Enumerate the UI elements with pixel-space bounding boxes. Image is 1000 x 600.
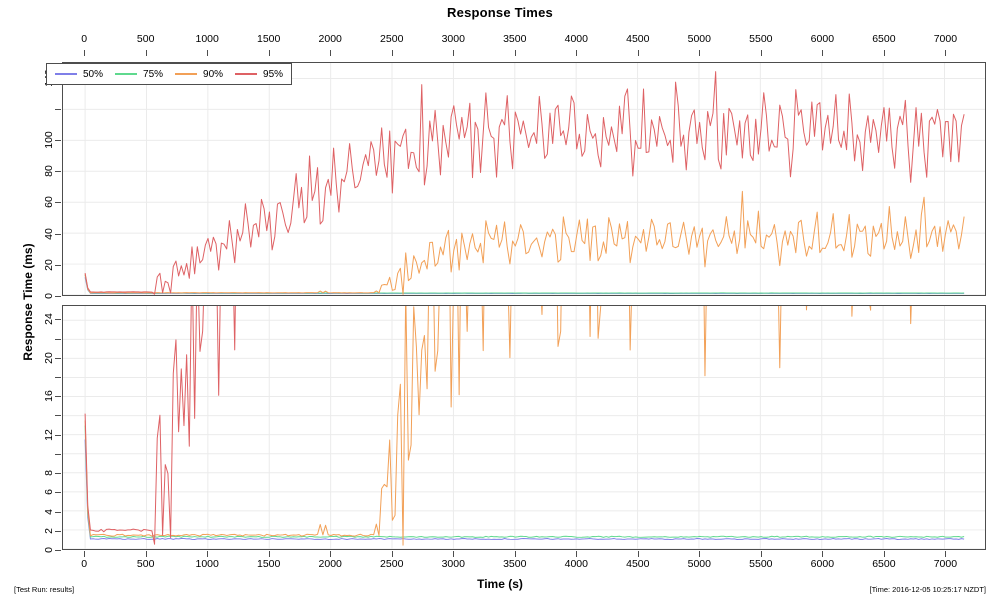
x-tickmark-top xyxy=(884,50,885,56)
x-tickmark-top xyxy=(453,50,454,56)
x-tickmark-bottom xyxy=(699,551,700,557)
plot-panel-zoomed xyxy=(62,305,986,550)
x-tick-label-top: 3000 xyxy=(442,33,465,45)
y-tickmark-bottom xyxy=(55,512,61,513)
x-tick-label-bottom: 3000 xyxy=(442,558,465,570)
y-tick-label-bottom: 12 xyxy=(43,415,55,455)
y-tick-label-bottom: 8 xyxy=(43,453,55,493)
x-tick-label-top: 1000 xyxy=(195,33,218,45)
plot-panel-full-range xyxy=(62,62,986,296)
legend-swatch-icon xyxy=(175,73,197,75)
y-tickmark-top xyxy=(55,234,61,235)
x-tick-label-top: 5000 xyxy=(688,33,711,45)
x-tick-label-bottom: 1000 xyxy=(195,558,218,570)
y-tickmark-bottom xyxy=(55,473,61,474)
y-tickmark-bottom xyxy=(55,319,61,320)
x-tickmark-top xyxy=(392,50,393,56)
y-tickmark-top xyxy=(55,140,61,141)
x-tick-label-bottom: 500 xyxy=(137,558,155,570)
series-line-50pct xyxy=(85,439,964,539)
legend-entry-95pct[interactable]: 95% xyxy=(235,69,283,80)
series-line-95pct xyxy=(85,72,964,295)
y-tickmark-bottom xyxy=(55,492,61,493)
x-tickmark-bottom xyxy=(515,551,516,557)
x-tickmark-bottom xyxy=(146,551,147,557)
y-tickmark-top xyxy=(55,296,61,297)
x-tickmark-top xyxy=(207,50,208,56)
legend-entry-50pct[interactable]: 50% xyxy=(55,69,103,80)
y-tickmark-bottom xyxy=(55,396,61,397)
x-tick-label-bottom: 6500 xyxy=(872,558,895,570)
chart-legend: 50%75%90%95% xyxy=(46,63,292,85)
x-tick-label-bottom: 2500 xyxy=(380,558,403,570)
y-tickmark-bottom xyxy=(55,531,61,532)
x-tickmark-bottom xyxy=(576,551,577,557)
plot-svg-zoomed xyxy=(63,306,985,549)
x-tickmark-top xyxy=(761,50,762,56)
x-tickmark-top xyxy=(146,50,147,56)
y-tickmark-bottom xyxy=(55,339,61,340)
x-tick-label-bottom: 0 xyxy=(81,558,87,570)
y-tickmark-bottom xyxy=(55,435,61,436)
x-tickmark-bottom xyxy=(269,551,270,557)
legend-swatch-icon xyxy=(55,73,77,75)
x-tick-label-top: 2000 xyxy=(319,33,342,45)
x-tickmark-bottom xyxy=(84,551,85,557)
legend-label: 90% xyxy=(203,69,223,80)
x-tickmark-top xyxy=(84,50,85,56)
x-tick-label-top: 500 xyxy=(137,33,155,45)
x-tick-label-top: 6000 xyxy=(811,33,834,45)
x-tickmark-bottom xyxy=(945,551,946,557)
series-line-50pct xyxy=(85,277,964,293)
x-tick-label-bottom: 4000 xyxy=(565,558,588,570)
x-tick-label-bottom: 6000 xyxy=(811,558,834,570)
y-tickmark-top xyxy=(55,109,61,110)
legend-swatch-icon xyxy=(115,73,137,75)
y-tickmark-bottom xyxy=(55,550,61,551)
test-run-footnote: [Test Run: results] xyxy=(14,585,74,594)
x-tickmark-bottom xyxy=(761,551,762,557)
x-tick-label-bottom: 1500 xyxy=(257,558,280,570)
series-line-75pct xyxy=(85,275,964,293)
x-tick-label-top: 3500 xyxy=(503,33,526,45)
y-tick-label-top: 100 xyxy=(43,120,55,160)
y-tick-label-bottom: 20 xyxy=(43,338,55,378)
x-tick-label-top: 4000 xyxy=(565,33,588,45)
y-tickmark-top xyxy=(55,265,61,266)
x-tickmark-top xyxy=(822,50,823,56)
y-axis-title: Response Time (ms) xyxy=(21,182,35,422)
legend-label: 95% xyxy=(263,69,283,80)
series-line-75pct xyxy=(85,426,964,538)
x-tick-label-bottom: 4500 xyxy=(626,558,649,570)
legend-entry-90pct[interactable]: 90% xyxy=(175,69,223,80)
x-tick-label-top: 7000 xyxy=(934,33,957,45)
y-tick-label-bottom: 24 xyxy=(43,299,55,339)
x-tickmark-top xyxy=(330,50,331,56)
x-tickmark-top xyxy=(515,50,516,56)
x-tick-label-bottom: 5500 xyxy=(749,558,772,570)
legend-swatch-icon xyxy=(235,73,257,75)
x-tickmark-top xyxy=(638,50,639,56)
legend-label: 50% xyxy=(83,69,103,80)
y-tickmark-bottom xyxy=(55,454,61,455)
x-tickmark-top xyxy=(576,50,577,56)
y-tickmark-top xyxy=(55,171,61,172)
x-tick-label-top: 2500 xyxy=(380,33,403,45)
x-tick-label-bottom: 7000 xyxy=(934,558,957,570)
series-line-90pct xyxy=(85,306,964,545)
x-tick-label-top: 4500 xyxy=(626,33,649,45)
plot-svg-full-range xyxy=(63,63,985,295)
series-line-95pct xyxy=(85,306,964,544)
x-tickmark-bottom xyxy=(330,551,331,557)
x-tick-label-top: 0 xyxy=(81,33,87,45)
legend-entry-75pct[interactable]: 75% xyxy=(115,69,163,80)
x-tick-label-top: 5500 xyxy=(749,33,772,45)
x-tickmark-bottom xyxy=(392,551,393,557)
series-line-90pct xyxy=(85,191,964,294)
x-tickmark-top xyxy=(269,50,270,56)
x-tick-label-top: 6500 xyxy=(872,33,895,45)
x-tickmark-top xyxy=(699,50,700,56)
x-tickmark-bottom xyxy=(638,551,639,557)
x-axis-title: Time (s) xyxy=(0,577,1000,591)
x-tick-label-bottom: 2000 xyxy=(319,558,342,570)
y-tick-label-bottom: 16 xyxy=(43,376,55,416)
x-tickmark-bottom xyxy=(822,551,823,557)
y-tickmark-top xyxy=(55,202,61,203)
x-tickmark-bottom xyxy=(884,551,885,557)
x-tickmark-bottom xyxy=(207,551,208,557)
x-tick-label-bottom: 3500 xyxy=(503,558,526,570)
x-tickmark-top xyxy=(945,50,946,56)
legend-label: 75% xyxy=(143,69,163,80)
x-tick-label-top: 1500 xyxy=(257,33,280,45)
page-title: Response Times xyxy=(0,5,1000,20)
x-tickmark-bottom xyxy=(453,551,454,557)
timestamp-footnote: [Time: 2016-12-05 10:25:17 NZDT] xyxy=(870,585,986,594)
y-tickmark-bottom xyxy=(55,415,61,416)
y-tickmark-bottom xyxy=(55,358,61,359)
x-tick-label-bottom: 5000 xyxy=(688,558,711,570)
y-tickmark-bottom xyxy=(55,377,61,378)
